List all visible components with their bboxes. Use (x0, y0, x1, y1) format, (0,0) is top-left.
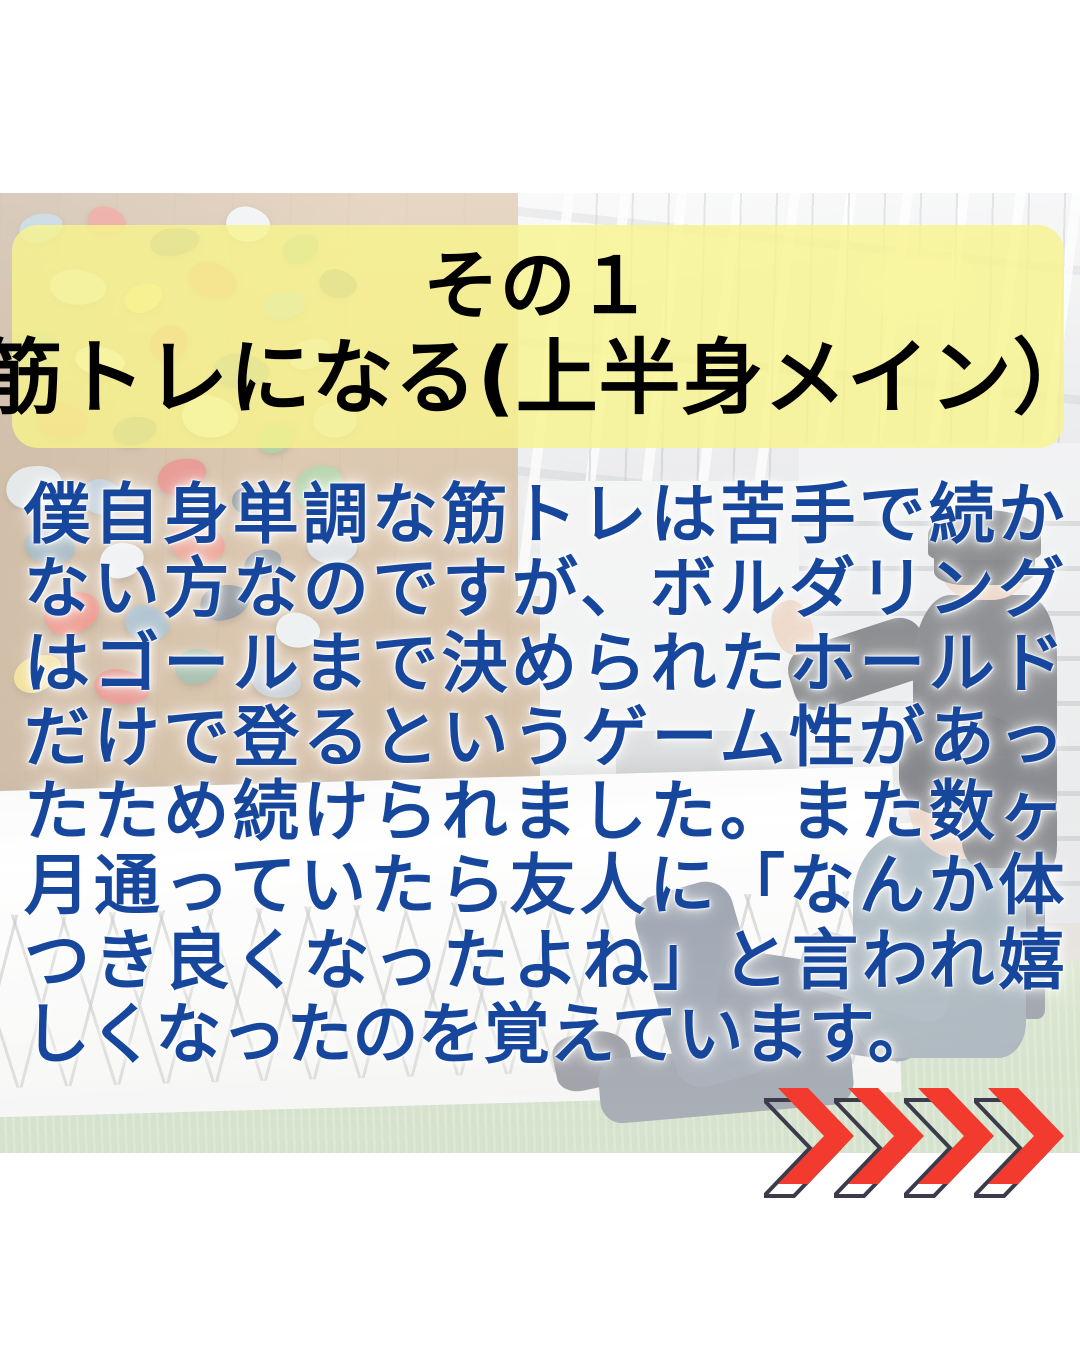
title-banner: その１ 筋トレになる(上半身メイン） (12, 225, 1064, 448)
banner-title-line-2: 筋トレになる(上半身メイン） (0, 338, 1080, 420)
slide-canvas: その１ 筋トレになる(上半身メイン） 僕自身単調な筋トレは苦手で続かない方なので… (0, 0, 1080, 1350)
next-page-chevrons[interactable] (778, 1082, 1068, 1190)
banner-title-line-1: その１ (423, 248, 653, 324)
chevron-4[interactable] (988, 1082, 1066, 1190)
chevron-icon (988, 1082, 1066, 1190)
body-paragraph: 僕自身単調な筋トレは苦手で続かない方なのですが、ボルダリングはゴールまで決められ… (24, 478, 1064, 1072)
